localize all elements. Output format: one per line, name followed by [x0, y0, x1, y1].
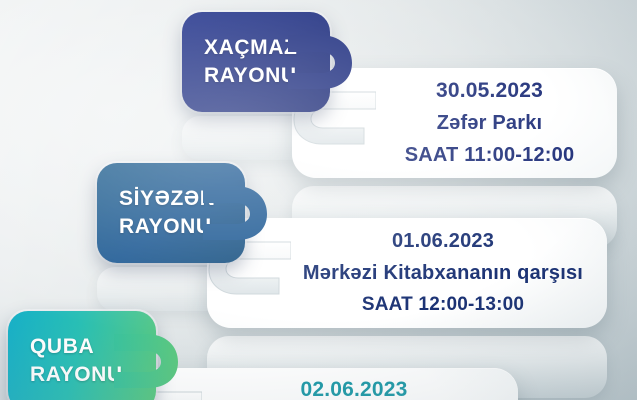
event-place: Zəfər Parkı [437, 112, 543, 135]
event-date: 02.06.2023 [300, 378, 407, 400]
region-badge-quba[interactable]: QUBA RAYONU [8, 311, 156, 400]
region-badge-siyezen[interactable]: SİYƏZƏN RAYONU [97, 163, 245, 263]
event-time: SAAT 11:00-12:00 [405, 144, 575, 167]
region-badge-xacmaz[interactable]: XAÇMAZ RAYONU [182, 12, 330, 112]
poster-canvas: 30.05.2023 Zəfər Parkı SAAT 11:00-12:00 … [0, 0, 637, 400]
event-time: SAAT 12:00-13:00 [362, 294, 524, 316]
event-date: 01.06.2023 [392, 230, 494, 253]
event-place: Mərkəzi Kitabxananın qarşısı [303, 262, 583, 285]
badge-clasp-icon-2 [201, 182, 275, 244]
badge-clasp-icon-3 [112, 330, 186, 392]
event-date: 30.05.2023 [436, 79, 543, 103]
badge-clasp-icon-1 [286, 31, 360, 93]
